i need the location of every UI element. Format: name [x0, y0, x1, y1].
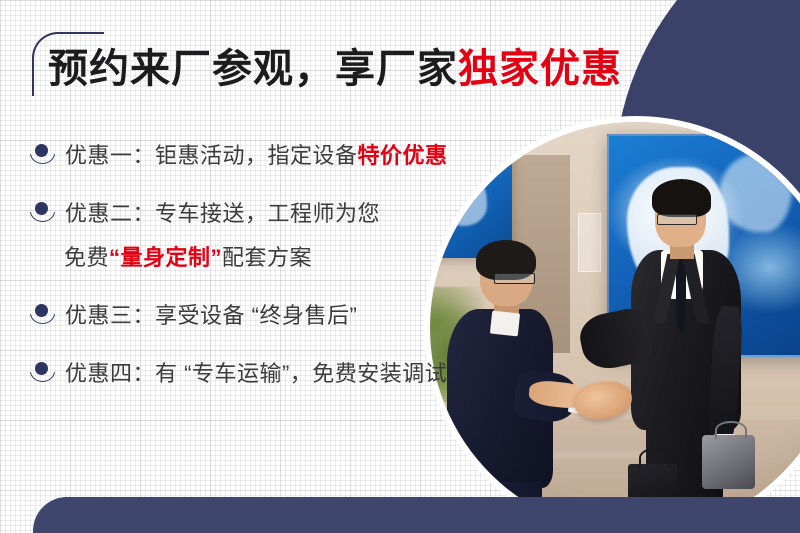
benefit-line: 优惠四：有 “专车运输”，免费安装调试 — [30, 350, 500, 394]
right-man-glasses — [657, 214, 698, 225]
benefit-highlight: “量身定制” — [109, 240, 222, 272]
headline-main-text: 预约来厂参观，享厂家 — [48, 47, 458, 91]
benefit-line-continuation: 免费 “量身定制” 配套方案 — [30, 234, 500, 278]
list-item: 优惠二：专车接送，工程师为您 免费 “量身定制” 配套方案 — [30, 190, 500, 278]
circle-cradle-bullet-icon — [30, 141, 56, 167]
list-item: 优惠一：钜惠活动，指定设备 特价优惠 — [30, 132, 500, 176]
benefit-line: 优惠一：钜惠活动，指定设备 特价优惠 — [30, 132, 500, 176]
bottom-navy-bar — [33, 497, 800, 533]
page-title: 预约来厂参观，享厂家独家优惠 — [48, 46, 622, 92]
headline-accent-text: 独家优惠 — [458, 47, 622, 91]
gray-handbag — [702, 435, 756, 489]
list-item: 优惠四：有 “专车运输”，免费安装调试 — [30, 350, 500, 394]
promo-banner: ing United ited — [0, 0, 800, 533]
benefit-text: 优惠一：钜惠活动，指定设备 — [65, 138, 358, 170]
benefit-highlight: 特价优惠 — [358, 138, 448, 170]
wall-panel — [578, 213, 601, 273]
benefits-list: 优惠一：钜惠活动，指定设备 特价优惠 优惠二：专车接送，工程师为您 免费 “量身… — [30, 132, 500, 408]
circle-cradle-bullet-icon — [30, 199, 56, 225]
benefit-text-tail: 配套方案 — [222, 240, 312, 272]
circle-cradle-bullet-icon — [30, 359, 56, 385]
benefit-line: 优惠二：专车接送，工程师为您 — [30, 190, 500, 234]
benefit-text: 优惠三：享受设备 “终身售后” — [65, 298, 357, 330]
benefit-line: 优惠三：享受设备 “终身售后” — [30, 292, 500, 336]
right-man-hair — [652, 179, 711, 217]
benefit-text: 优惠二：专车接送，工程师为您 — [65, 196, 380, 228]
circle-cradle-bullet-icon — [30, 301, 56, 327]
benefit-text: 优惠四：有 “专车运输”，免费安装调试 — [65, 356, 447, 388]
benefit-text: 免费 — [64, 240, 109, 272]
list-item: 优惠三：享受设备 “终身售后” — [30, 292, 500, 336]
left-man-glasses — [494, 273, 535, 284]
